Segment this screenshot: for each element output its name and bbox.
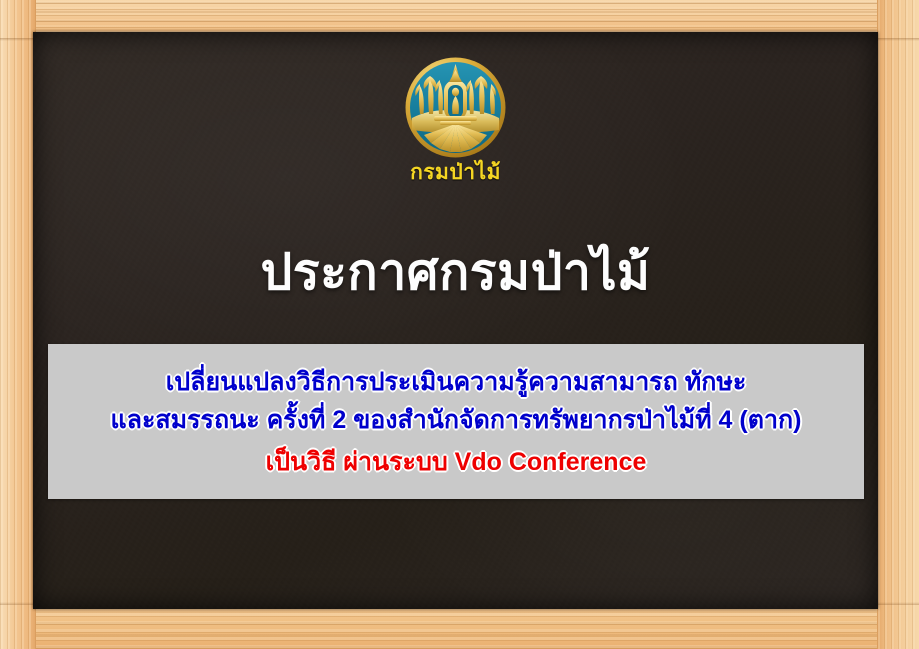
- frame-plank-right: [877, 0, 919, 649]
- banner-line-1: เปลี่ยนแปลงวิธีการประเมินความรู้ความสามา…: [48, 363, 864, 401]
- frame-plank-left: [0, 0, 36, 649]
- emblem-block: กรมป่าไม้: [33, 56, 878, 184]
- royal-forest-department-seal-icon: [404, 56, 507, 159]
- department-name-label: กรมป่าไม้: [410, 161, 501, 184]
- blackboard-surface: กรมป่าไม้ ประกาศกรมป่าไม้ เปลี่ยนแปลงวิธ…: [33, 32, 878, 609]
- announcement-banner: เปลี่ยนแปลงวิธีการประเมินความรู้ความสามา…: [48, 344, 864, 499]
- frame-plank-bottom: [0, 604, 919, 649]
- announcement-poster: กรมป่าไม้ ประกาศกรมป่าไม้ เปลี่ยนแปลงวิธ…: [0, 0, 919, 649]
- banner-line-3: เป็นวิธี ผ่านระบบ Vdo Conference: [48, 443, 864, 481]
- banner-line-2: และสมรรถนะ ครั้งที่ 2 ของสำนักจัดการทรัพ…: [48, 401, 864, 439]
- page-title: ประกาศกรมป่าไม้: [33, 244, 878, 300]
